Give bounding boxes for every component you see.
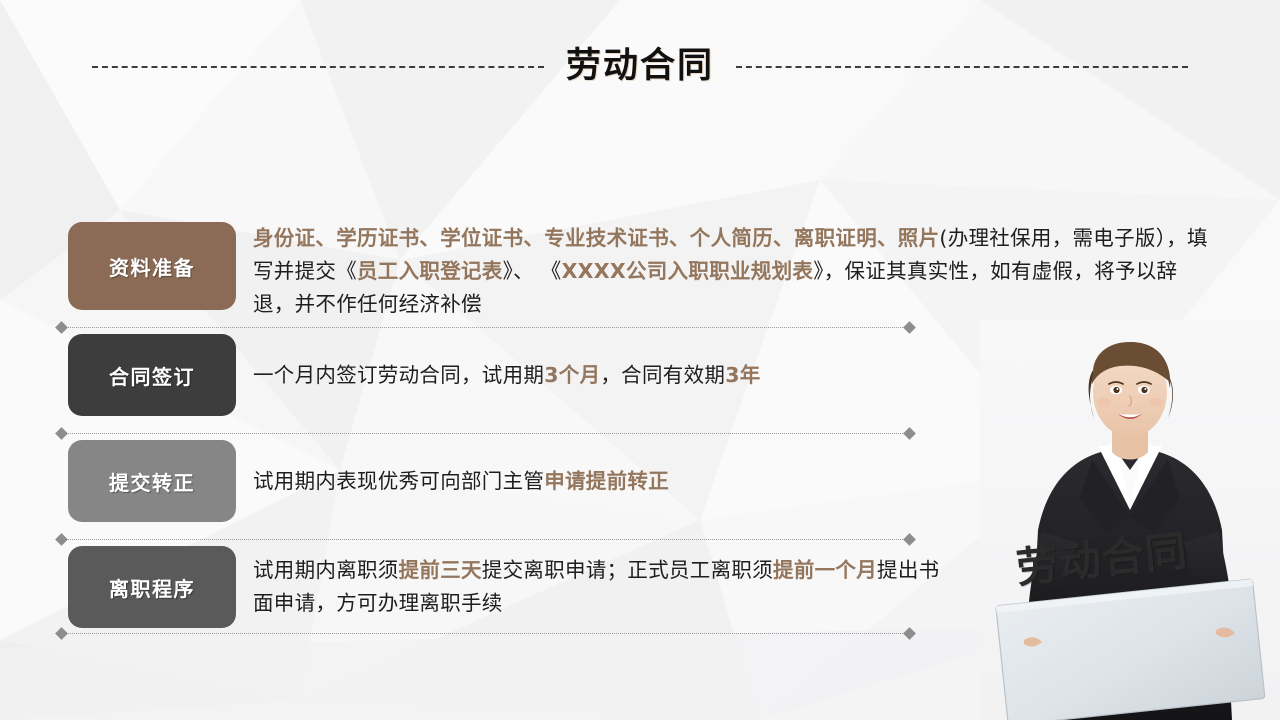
row-label-box-1[interactable]: 资料准备 xyxy=(68,222,236,310)
title-bar: 劳动合同 xyxy=(0,38,1280,94)
dotted-line xyxy=(68,539,903,540)
row-seg: 》、 《 xyxy=(503,259,562,283)
row-seg: 申请提前转正 xyxy=(544,469,669,493)
row-label-box-3[interactable]: 提交转正 xyxy=(68,440,236,522)
row-separator xyxy=(57,534,914,546)
row-seg: 提前三天 xyxy=(399,558,482,582)
diamond-marker-icon xyxy=(903,321,916,334)
diamond-marker-icon xyxy=(903,427,916,440)
row-label-text: 提交转正 xyxy=(109,467,195,496)
row-body-1: 身份证、学历证书、学位证书、专业技术证书、个人简历、离职证明、照片(办理社保用，… xyxy=(236,222,1218,321)
row-text-2: 一个月内签订劳动合同，试用期3个月，合同有效期3年 xyxy=(253,359,761,392)
row-label-text: 资料准备 xyxy=(109,252,195,281)
row-seg: XXXX公司入职职业规划表 xyxy=(562,259,814,283)
row-seg: 3年 xyxy=(725,363,760,387)
diamond-marker-icon xyxy=(55,627,68,640)
row-text-4: 试用期内离职须提前三天提交离职申请；正式员工离职须提前一个月提出书面申请，方可办… xyxy=(253,554,953,620)
title-rule-right xyxy=(736,66,1188,68)
row-seg: 一个月内签订劳动合同，试用期 xyxy=(253,363,544,387)
row-seg: 身份证、学历证书、学位证书、专业技术证书、个人简历、离职证明、照片 xyxy=(253,226,939,250)
dotted-line xyxy=(68,633,903,634)
row-seg: 试用期内表现优秀可向部门主管 xyxy=(253,469,544,493)
row-text-3: 试用期内表现优秀可向部门主管申请提前转正 xyxy=(253,465,669,498)
row-seg: ，合同有效期 xyxy=(600,363,725,387)
row-label-box-2[interactable]: 合同签订 xyxy=(68,334,236,416)
row-seg: 试用期内离职须 xyxy=(253,558,399,582)
row-separator xyxy=(57,428,914,440)
diamond-marker-icon xyxy=(55,427,68,440)
row-separator xyxy=(57,628,914,640)
row-text-1: 身份证、学历证书、学位证书、专业技术证书、个人简历、离职证明、照片(办理社保用，… xyxy=(253,222,1218,321)
row-label-text: 合同签订 xyxy=(109,361,195,390)
diamond-marker-icon xyxy=(903,627,916,640)
row-seg: 提前一个月 xyxy=(773,558,877,582)
row-seg: 3个月 xyxy=(544,363,600,387)
dotted-line xyxy=(68,433,903,434)
row-seg: 员工入职登记表 xyxy=(357,259,503,283)
row-label-box-4[interactable]: 离职程序 xyxy=(68,546,236,628)
businesswoman-photo xyxy=(980,320,1280,720)
row-item: 资料准备 身份证、学历证书、学位证书、专业技术证书、个人简历、离职证明、照片(办… xyxy=(68,222,1218,310)
diamond-marker-icon xyxy=(55,533,68,546)
diamond-marker-icon xyxy=(903,533,916,546)
title-rule-left xyxy=(92,66,544,68)
row-seg: 提交离职申请；正式员工离职须 xyxy=(482,558,773,582)
row-separator xyxy=(57,322,914,334)
dotted-line xyxy=(68,327,903,328)
page-title: 劳动合同 xyxy=(566,49,714,84)
row-label-text: 离职程序 xyxy=(109,573,195,602)
slide-root: 劳动合同 资料准备 身份证、学历证书、学位证书、专业技术证书、个人简历、离职证明… xyxy=(0,0,1280,720)
diamond-marker-icon xyxy=(55,321,68,334)
